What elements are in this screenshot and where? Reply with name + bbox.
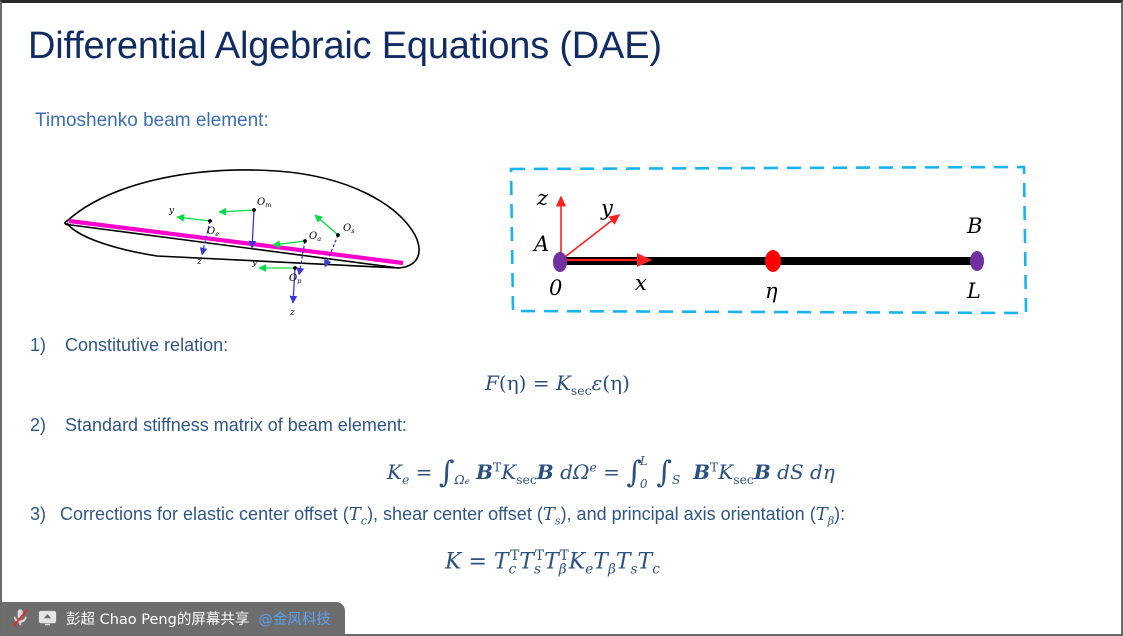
beam-node-b [970,251,984,271]
eq3-tc-sub: c [509,562,517,578]
eq2-equals-1: = [416,460,433,484]
eq3-ts-t: T [519,549,534,574]
beam-label-z: z [536,186,549,210]
list-item-3-text-a: Corrections for elastic center offset ( [60,504,349,524]
eq3-ts2-sub: s [631,562,638,578]
list-item-2-label: Standard stiffness matrix of beam elemen… [65,415,407,435]
beam-element-figure: A 0 z y x η B L [497,153,1037,328]
eq2-int3-domain: S [672,472,681,487]
microphone-muted-icon[interactable] [12,608,29,628]
list-item-1-number: 1) [30,335,60,356]
axis-z-arrow-oa [299,241,305,275]
section-subheading: Timoshenko beam element: [35,110,269,132]
eq2-dOmega-sup: e [589,459,596,474]
point-oe [208,219,212,223]
label-os: Os [343,223,355,235]
point-os [336,233,340,237]
eq2-K-1-sub: sec [516,472,537,487]
airfoil-svg: Om Oe Oa Os Op y z y z [47,163,437,323]
screen-share-status-bar[interactable]: 彭超 Chao Peng的屏幕共享 @金风科技 [2,602,345,634]
list-item-3-number: 3) [30,504,60,525]
eq2-K-1: K [501,460,516,484]
page-title: Differential Algebraic Equations (DAE) [28,25,662,68]
eq3-ke: K [569,549,585,574]
axis-label-y-oe: y [168,206,175,216]
beam-element-svg: A 0 z y x η B L [497,153,1037,323]
list-item-2-number: 2) [30,415,60,436]
list-item-3-text-d: ): [834,504,845,524]
eq2-B-4: B [754,460,771,484]
beam-label-a: A [532,232,549,256]
axis-label-z-op: z [289,308,295,318]
eq2-dS: dS [777,460,804,484]
eq3-tb2-sub: β [608,562,616,578]
point-oa [303,239,307,243]
list-item-2: 2) Standard stiffness matrix of beam ele… [30,415,407,436]
eq3-tc2-sub: c [652,562,660,578]
axis-z-arrow-os [325,235,338,267]
integral-sign-3: ∫ [656,455,672,490]
eq2-B-1-sup: T [493,459,501,474]
eq1-lhs: F [485,371,499,395]
beam-node-eta [765,250,781,272]
eq2-B-3: B [693,460,710,484]
list-item-3-tc: T [349,504,361,525]
share-owner-label: 彭超 Chao Peng的屏幕共享 [66,608,249,629]
eq2-int2-limits: L0 [640,461,648,486]
equation-constitutive: F(η) = Ksecε(η) [485,371,630,398]
eq2-deta: dη [810,460,835,484]
eq1-equals: = [533,371,550,395]
eq3-tb-sup: T [560,548,569,564]
eq2-K-2: K [718,460,733,484]
list-item-3-text-b: ), shear center offset ( [367,504,543,524]
eq2-int1-domain: Ω [454,472,464,487]
eq3-tc2: T [638,549,653,574]
eq3-lhs: K [445,549,461,574]
beam-label-l: L [966,279,981,303]
eq2-int2-upper: L [640,455,648,468]
eq3-tb-sub: β [559,562,567,578]
integral-sign-1: ∫ [439,455,455,490]
eq3-tb2: T [593,549,608,574]
eq2-dOmega: dΩ [560,460,589,484]
label-op: Op [289,273,302,285]
eq3-tc-t: T [494,549,509,574]
eq2-lhs: K [387,460,402,484]
eq3-equals: = [468,549,486,574]
eq1-eps-arg: (η) [602,371,630,395]
slide-canvas: Differential Algebraic Equations (DAE) T… [0,0,1123,636]
list-item-1-label: Constitutive relation: [65,335,228,355]
share-company-label: @金风科技 [258,608,331,629]
beam-label-eta: η [765,279,778,303]
list-item-3-text-c: ), and principal axis orientation ( [561,504,816,524]
eq2-lhs-sub: e [402,472,409,487]
eq2-B-1: B [476,460,493,484]
eq3-ts-sub: s [534,562,541,578]
screen-share-icon[interactable] [38,610,57,626]
list-item-3-tb: T [816,504,828,525]
airfoil-outline-upper [65,170,419,268]
eq3-ts2: T [616,549,631,574]
eq2-int1-domain-sup: e [465,476,470,486]
eq2-K-2-sub: sec [733,472,754,487]
beam-node-a [553,252,567,272]
eq1-lhs-arg: (η) [499,371,527,395]
beam-label-x: x [635,271,647,295]
axis-y-arrow-oa [273,241,305,245]
equation-corrected-stiffness: K = TcTTsTTβTKeTβTsTc [445,548,660,578]
axis-y-arrow-os [315,215,338,235]
equation-stiffness-matrix: Ke = ∫Ωe BTKsecB dΩe = ∫L0 ∫S BTKsecB dS… [387,452,835,487]
eq1-eps: ε [592,371,603,395]
airfoil-cross-section-figure: Om Oe Oa Os Op y z y z [47,163,437,328]
eq3-tc-sup: T [510,548,519,564]
eq1-k-sub: sec [571,383,592,398]
point-om [252,208,256,212]
axis-y-arrow-om [219,210,254,212]
axis-label-y-op: y [251,258,258,268]
eq3-ts-sup: T [535,548,544,564]
beam-label-b: B [966,214,982,238]
eq2-B-2: B [537,460,554,484]
beam-label-y: y [600,196,614,220]
eq2-equals-2: = [603,460,620,484]
beam-label-0: 0 [549,276,562,300]
label-om: Om [257,197,271,209]
eq1-k: K [556,371,571,395]
eq3-tb-t: T [544,549,559,574]
eq2-int2-lower: 0 [640,478,648,491]
list-item-3-ts: T [543,504,555,525]
point-op [293,266,297,270]
list-item-1: 1) Constitutive relation: [30,335,228,356]
axis-y-arrow [561,215,619,260]
axis-label-z-oe: z [196,257,202,267]
list-item-3: 3)Corrections for elastic center offset … [30,504,845,528]
label-oe: Oe [207,226,219,238]
axis-y-arrow-oe [177,217,210,221]
label-oa: Oa [309,231,321,243]
